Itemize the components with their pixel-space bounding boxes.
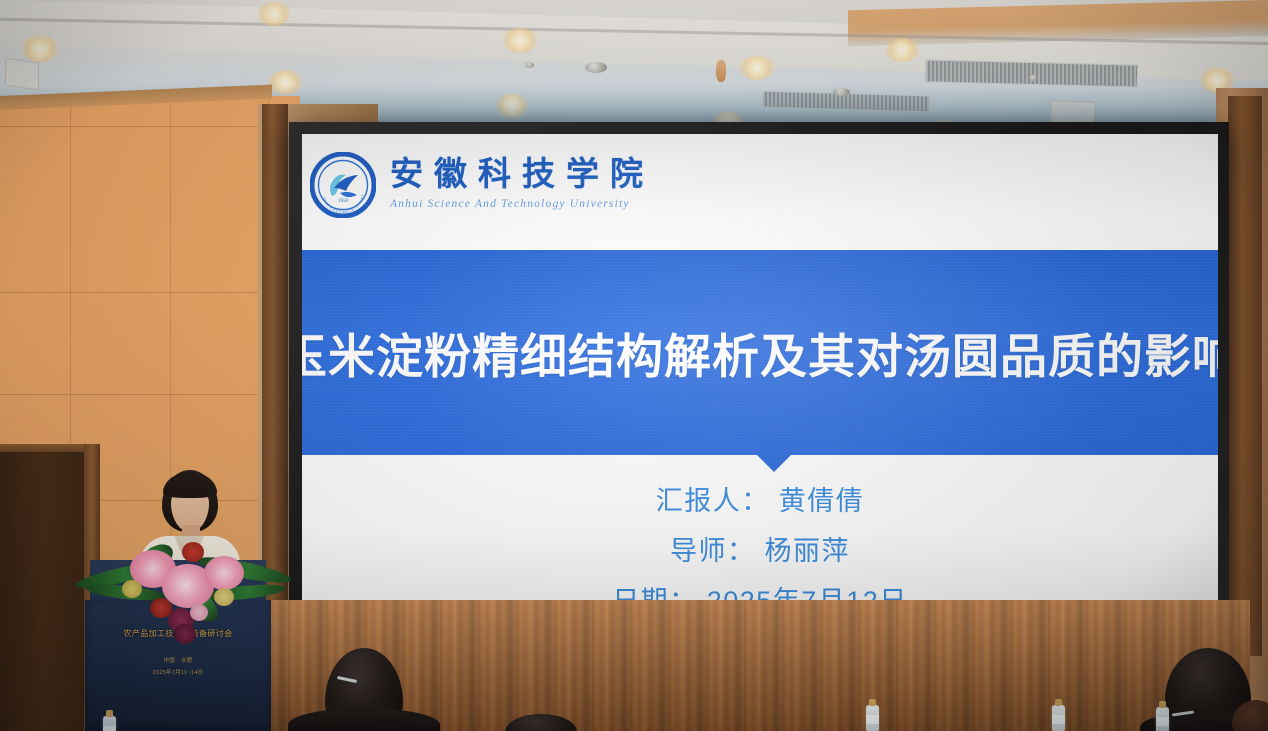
sprinkler-head bbox=[585, 62, 607, 73]
slide-title-band: 玉米淀粉精细结构解析及其对汤圆品质的影响 bbox=[302, 250, 1218, 455]
wood-column-right bbox=[1228, 96, 1262, 656]
presenter-line: 汇报人： 黄倩倩 bbox=[656, 479, 865, 518]
institution-name-block: 安徽科技学院 Anhui Science And Technology Univ… bbox=[390, 159, 654, 211]
svg-text:1950: 1950 bbox=[338, 199, 349, 204]
wall-panel-seam bbox=[0, 292, 300, 293]
orchid-bloom bbox=[174, 624, 196, 644]
lily-bloom bbox=[204, 556, 244, 590]
institution-name-cn: 安徽科技学院 bbox=[390, 159, 654, 192]
slide-presenter-info: 汇报人： 黄倩倩 导师： 杨丽萍 日期： 2025年7月12日 bbox=[302, 479, 1218, 615]
sprinkler-head bbox=[1029, 75, 1038, 81]
bottle-label bbox=[103, 726, 116, 731]
institution-branding: 1950 ANHUI SCIENCE AND TECHNOLOGY 安徽科技学院… bbox=[310, 152, 654, 218]
university-crest-logo: 1950 ANHUI SCIENCE AND TECHNOLOGY bbox=[310, 152, 376, 218]
slide-title: 玉米淀粉精细结构解析及其对汤圆品质的影响 bbox=[302, 250, 1218, 455]
podium-banner-location: 中国 · 合肥 bbox=[85, 656, 271, 664]
bottle-label bbox=[1052, 715, 1065, 724]
water-bottle bbox=[1052, 705, 1065, 731]
rose-bloom bbox=[190, 604, 208, 621]
presenter-hair-front bbox=[163, 472, 217, 498]
institution-name-en: Anhui Science And Technology University bbox=[390, 199, 654, 211]
slide-header: 1950 ANHUI SCIENCE AND TECHNOLOGY 安徽科技学院… bbox=[302, 134, 1218, 250]
podium-banner-date: 2025年7月11~14日 bbox=[85, 668, 271, 676]
recessed-downlight bbox=[22, 36, 58, 62]
air-vent bbox=[925, 59, 1138, 87]
water-bottle bbox=[103, 716, 116, 731]
flower-arrangement bbox=[78, 532, 288, 642]
sprinkler-head bbox=[525, 62, 534, 68]
advisor-line: 导师： 杨丽萍 bbox=[670, 529, 850, 568]
recessed-downlight bbox=[885, 38, 919, 62]
rose-bloom bbox=[122, 580, 142, 598]
water-bottle bbox=[866, 705, 879, 731]
wall-panel-seam bbox=[0, 126, 300, 127]
water-bottle bbox=[1156, 707, 1169, 731]
recessed-downlight bbox=[258, 2, 290, 26]
bottle-label bbox=[866, 715, 879, 724]
bottle-label bbox=[1156, 717, 1169, 726]
rose-bloom bbox=[214, 588, 234, 606]
projection-screen: 1950 ANHUI SCIENCE AND TECHNOLOGY 安徽科技学院… bbox=[302, 134, 1218, 615]
rose-bloom bbox=[182, 542, 204, 562]
band-chevron-icon bbox=[757, 455, 791, 472]
wall-panel-seam bbox=[0, 394, 300, 395]
pendant-light bbox=[716, 60, 726, 82]
recessed-downlight bbox=[740, 56, 774, 80]
recessed-downlight bbox=[503, 28, 537, 53]
conference-photo: 1950 ANHUI SCIENCE AND TECHNOLOGY 安徽科技学院… bbox=[0, 0, 1268, 731]
